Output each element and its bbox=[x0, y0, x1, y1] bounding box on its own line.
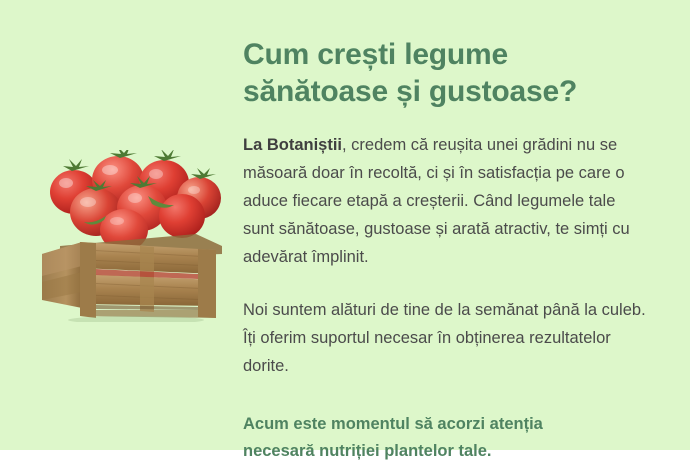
page-title: Cum crești legume sănătoase și gustoase? bbox=[243, 36, 647, 110]
promo-banner: Cum crești legume sănătoase și gustoase?… bbox=[0, 0, 690, 450]
crate-front-panels bbox=[80, 242, 216, 318]
closing-line-1: Acum este momentul să acorzi atenția bbox=[243, 411, 647, 438]
brand-name: La Botaniștii bbox=[243, 136, 342, 154]
headline-line-1: Cum crești legume bbox=[243, 36, 647, 73]
closing-line-2: necesară nutriției plantelor tale. bbox=[243, 438, 647, 465]
tomato-crate-illustration bbox=[36, 150, 222, 322]
intro-paragraph: La Botaniștii, credem că reușita unei gr… bbox=[243, 110, 647, 271]
call-to-action-text: Acum este momentul să acorzi atenția nec… bbox=[243, 380, 647, 465]
intro-paragraph-text: , credem că reușita unei grădini nu se m… bbox=[243, 136, 630, 266]
headline-line-2: sănătoase și gustoase? bbox=[243, 73, 647, 110]
text-column: Cum crești legume sănătoase și gustoase?… bbox=[243, 36, 647, 465]
crate-side-panel bbox=[42, 242, 82, 308]
support-paragraph: Noi suntem alături de tine de la semănat… bbox=[243, 271, 647, 380]
